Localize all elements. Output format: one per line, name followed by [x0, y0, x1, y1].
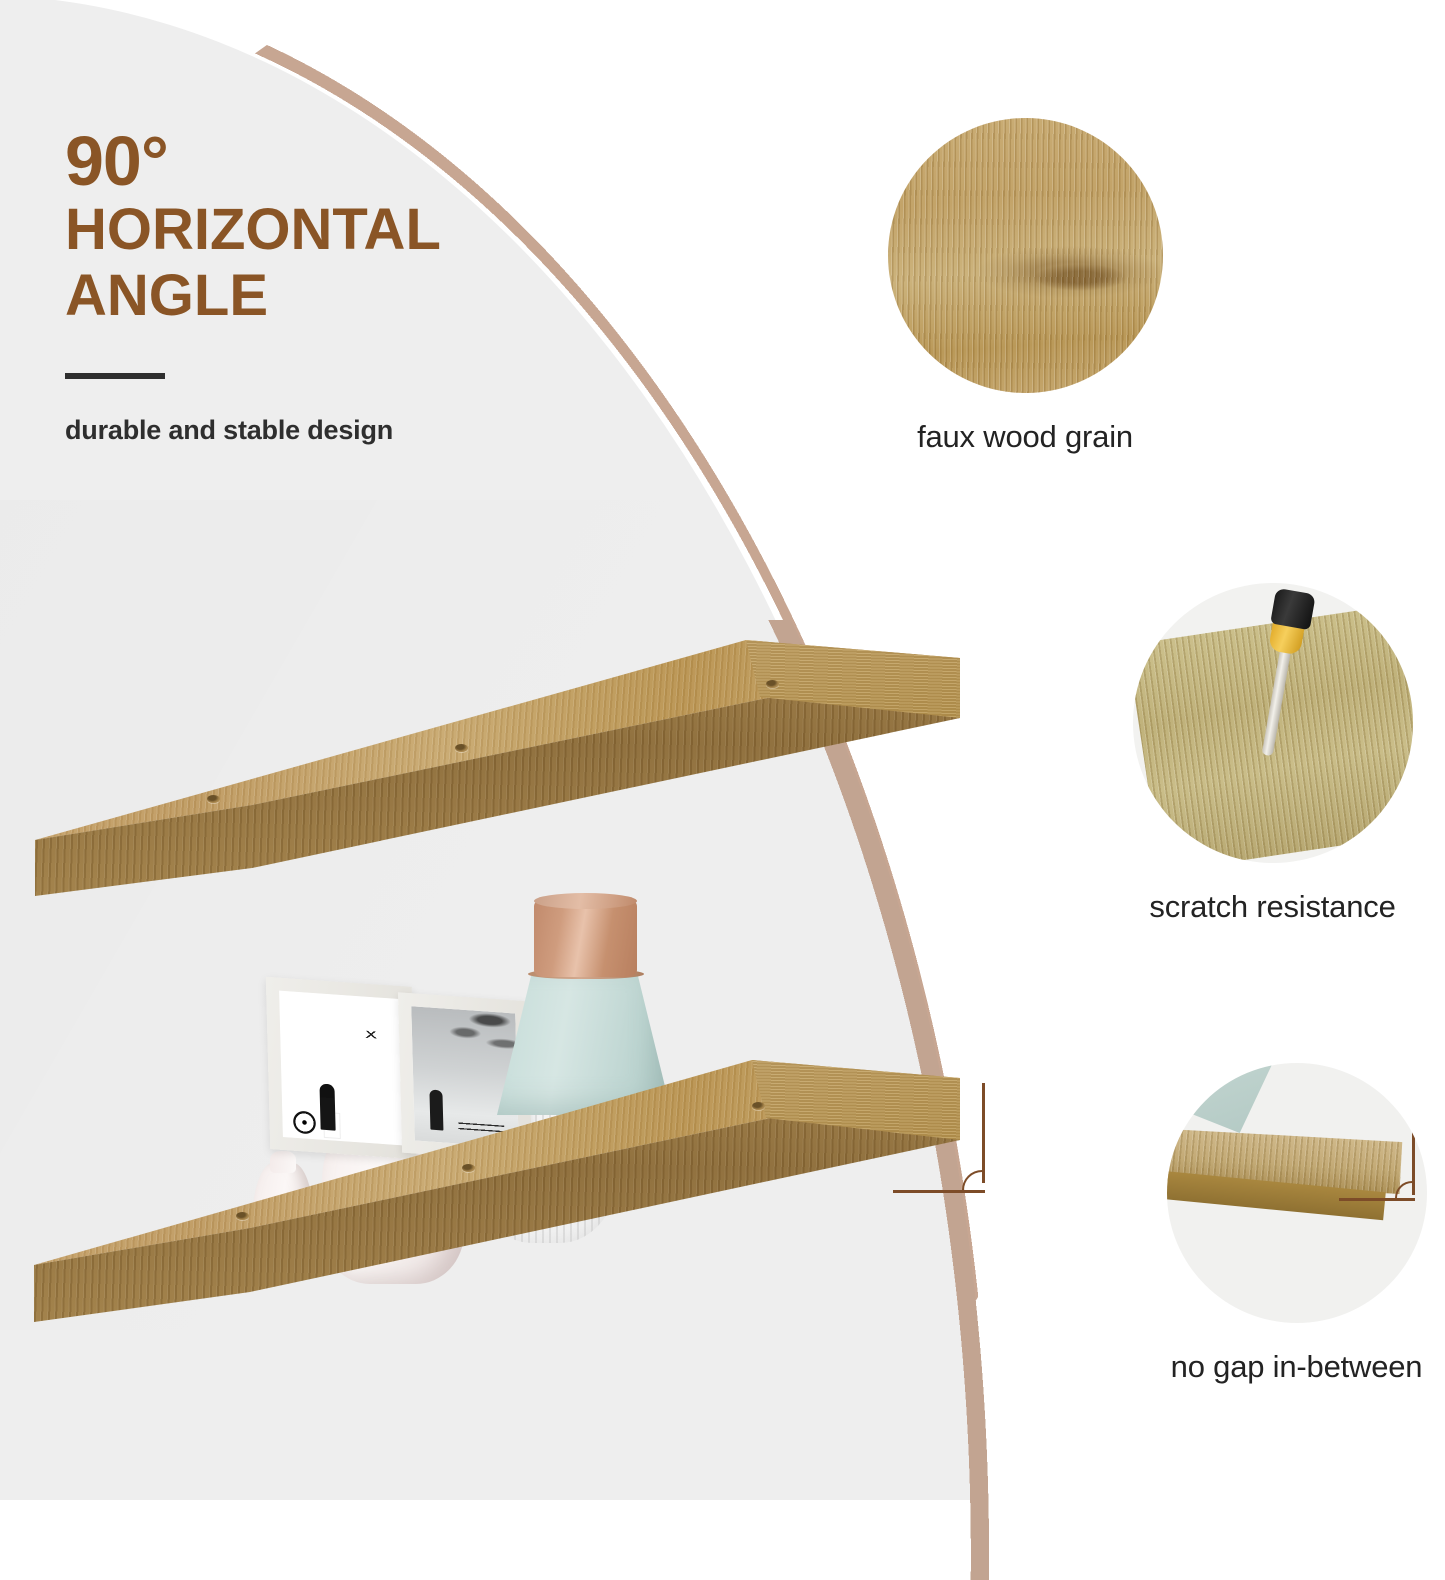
upper-shelf-screw-far-left	[207, 795, 220, 803]
product-feature-stage: 90° HORIZONTAL ANGLE durable and stable …	[0, 0, 1445, 1500]
screwdriver-on-wood-circle-icon	[1133, 583, 1413, 863]
lower-shelf-screw-mid	[462, 1164, 475, 1172]
angle-bracket-90-degree	[893, 1083, 985, 1193]
headline-line-2: ANGLE	[65, 265, 685, 327]
photo-bird	[364, 1031, 378, 1039]
callout-no-gap-in-between: no gap in-between	[1148, 1063, 1445, 1385]
bracket-arc-indicator	[962, 1170, 982, 1190]
upper-shelf-screw-right	[766, 680, 779, 688]
lower-shelf-screw-left	[236, 1212, 249, 1220]
callout-scratch-resistance: scratch resistance	[1105, 583, 1440, 925]
shelves-scene	[0, 500, 1000, 1330]
no-gap-bracket-horizontal-line	[1339, 1198, 1415, 1201]
wood-grain-swatch-circle-icon	[888, 118, 1163, 393]
upper-shelf-board	[0, 640, 960, 900]
upper-shelf-screw-left	[455, 744, 468, 752]
bracket-horizontal-line	[893, 1190, 985, 1193]
no-gap-mint-vase-corner	[1185, 1063, 1277, 1133]
no-gap-bracket-arc-indicator	[1395, 1181, 1412, 1198]
callout-caption-faux-wood-grain: faux wood grain	[860, 419, 1190, 455]
bracket-vertical-line	[982, 1083, 985, 1183]
no-gap-angle-bracket	[1339, 1125, 1415, 1201]
headline-subtitle: durable and stable design	[65, 415, 685, 446]
headline-degree: 90°	[65, 128, 685, 195]
headline-line-1: HORIZONTAL	[65, 199, 685, 261]
callout-caption-scratch-resistance: scratch resistance	[1105, 889, 1440, 925]
decor-copper-vase-neck	[534, 899, 637, 977]
callout-faux-wood-grain: faux wood grain	[860, 118, 1190, 455]
lower-shelf-board	[0, 1060, 960, 1330]
callout-caption-no-gap-in-between: no gap in-between	[1148, 1349, 1445, 1385]
shelf-edge-angle-circle-icon	[1167, 1063, 1427, 1323]
screwdriver-handle-icon	[1270, 588, 1316, 630]
headline-divider-rule	[65, 373, 165, 379]
headline-block: 90° HORIZONTAL ANGLE durable and stable …	[65, 128, 685, 446]
lower-shelf-screw-right	[752, 1102, 765, 1110]
